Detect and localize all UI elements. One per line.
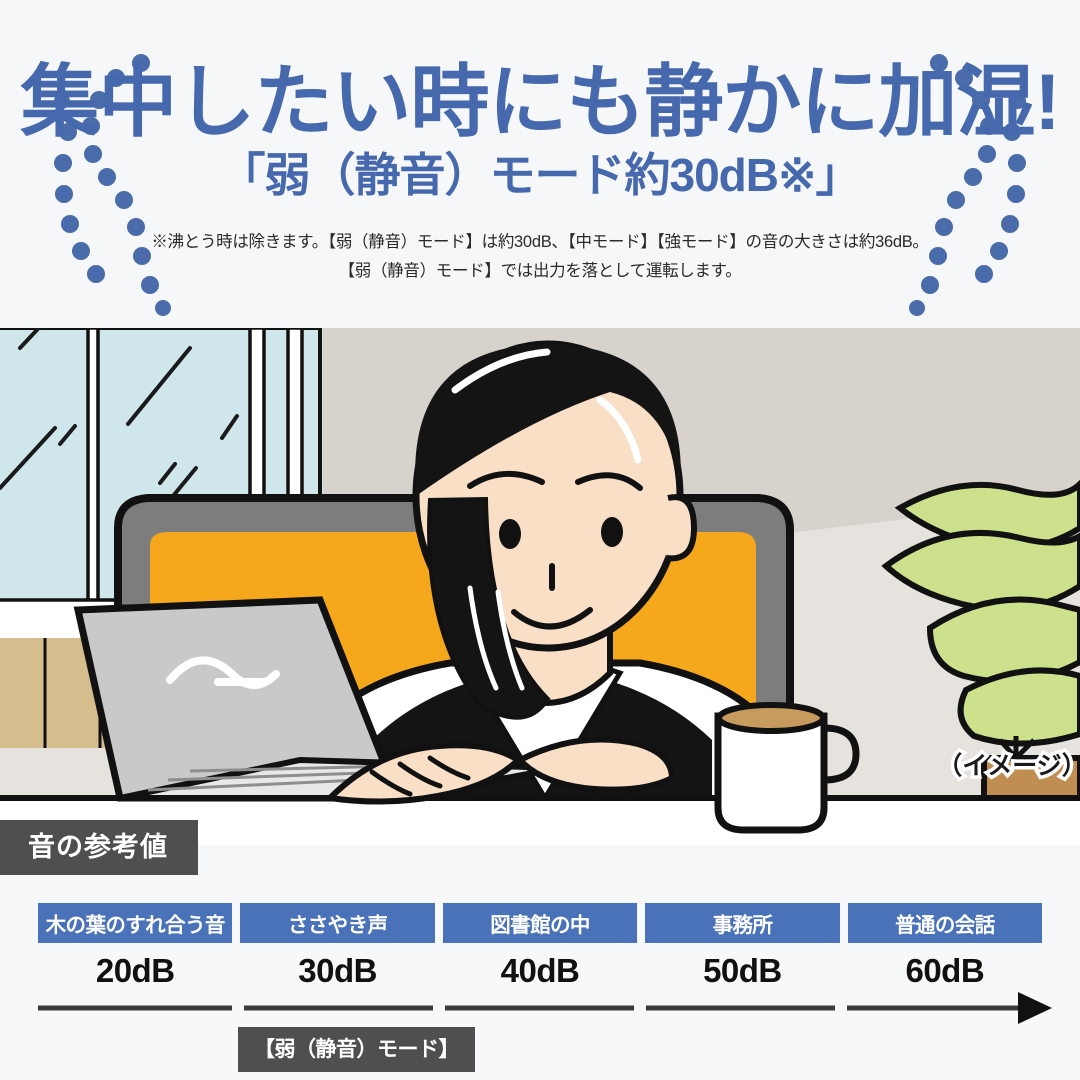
headline-banner: 集中したい時にも静かに加湿! 「弱（静音）モード約30dB※」 ※沸とう時は除き… — [0, 0, 1080, 328]
eye-left — [499, 519, 521, 549]
scale-value-4: 60dB — [848, 949, 1042, 993]
scale-label-4: 普通の会話 — [848, 903, 1042, 943]
image-caption: （イメージ） — [937, 751, 1080, 780]
scale-label-1: ささやき声 — [240, 903, 434, 943]
disclaimer-note: ※沸とう時は除きます。【弱（静音）モード】は約30dB、【中モード】【強モード】… — [0, 228, 1080, 286]
quiet-mode-marker: 【弱（静音）モード】 — [238, 1027, 475, 1072]
disclaimer-line-1: ※沸とう時は除きます。【弱（静音）モード】は約30dB、【中モード】【強モード】… — [0, 228, 1080, 257]
scale-value-labels: 20dB 30dB 40dB 50dB 60dB — [38, 949, 1042, 993]
scene-illustration: （イメージ） — [0, 328, 1080, 845]
scale-axis-arrow — [0, 991, 1080, 1025]
sound-reference-scale: 音の参考値 木の葉のすれ合う音 ささやき声 図書館の中 事務所 普通の会話 20… — [0, 845, 1080, 1080]
scale-value-1: 30dB — [240, 949, 434, 993]
scale-label-2: 図書館の中 — [443, 903, 637, 943]
scale-value-3: 50dB — [645, 949, 839, 993]
scale-category-labels: 木の葉のすれ合う音 ささやき声 図書館の中 事務所 普通の会話 — [38, 903, 1042, 943]
scale-value-0: 20dB — [38, 949, 232, 993]
scale-label-3: 事務所 — [645, 903, 839, 943]
eye-right — [601, 517, 623, 547]
scale-value-2: 40dB — [443, 949, 637, 993]
axis-arrowhead — [1018, 992, 1052, 1024]
disclaimer-line-2: 【弱（静音）モード】では出力を落として運転します。 — [0, 257, 1080, 286]
page-title: 集中したい時にも静かに加湿! — [0, 62, 1080, 141]
scale-label-0: 木の葉のすれ合う音 — [38, 903, 232, 943]
coffee-liquid — [719, 705, 823, 731]
section-label-sound-reference: 音の参考値 — [0, 820, 198, 875]
promo-page: 集中したい時にも静かに加湿! 「弱（静音）モード約30dB※」 ※沸とう時は除き… — [0, 0, 1080, 1080]
page-subtitle: 「弱（静音）モード約30dB※」 — [0, 152, 1080, 198]
ear — [666, 497, 694, 558]
